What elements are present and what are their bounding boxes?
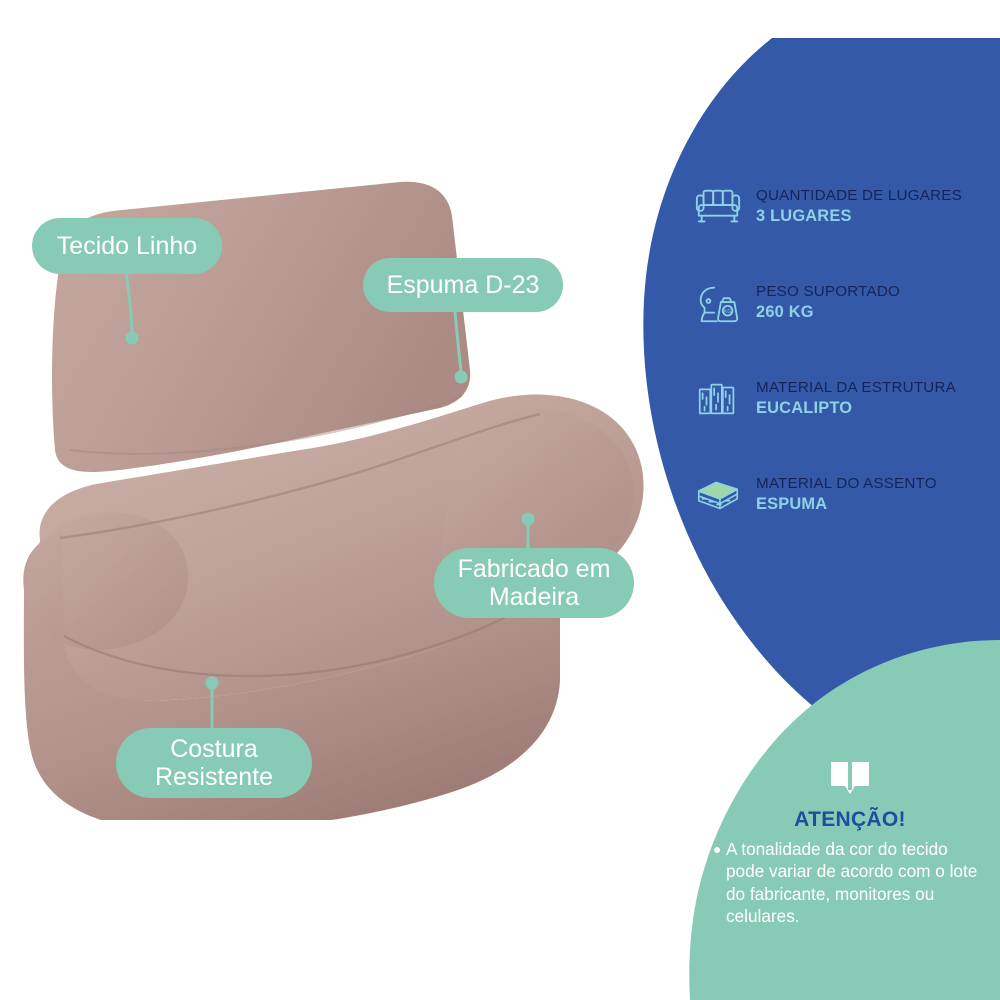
spec-row-peso-suportado: KG PESO SUPORTADO 260 KG [692, 268, 1000, 338]
attention-body-text: A tonalidade da cor do tecido pode varia… [726, 839, 977, 926]
svg-text:KG: KG [724, 309, 732, 315]
callout-costura-resistente[interactable]: Costura Resistente [116, 728, 312, 798]
wood-planks-icon [692, 373, 744, 425]
infographic-canvas: Tecido Linho Espuma D-23 Fabricado em Ma… [0, 0, 1000, 1000]
callout-label: Costura Resistente [155, 735, 273, 791]
callout-label: Tecido Linho [57, 232, 197, 260]
spec-value: 3 LUGARES [756, 207, 1000, 226]
spec-value: ESPUMA [756, 495, 1000, 514]
person-weight-icon: KG [692, 277, 744, 329]
callout-label: Espuma D-23 [387, 271, 540, 299]
spec-list: QUANTIDADE DE LUGARES 3 LUGARES KG PESO … [692, 172, 1000, 556]
callout-label: Fabricado em Madeira [458, 555, 611, 611]
sofa-icon [692, 181, 744, 233]
spec-label: MATERIAL DO ASSENTO [756, 475, 1000, 493]
callout-tecido-linho[interactable]: Tecido Linho [32, 218, 222, 274]
attention-block: ATENÇÃO! A tonalidade da cor do tecido p… [700, 760, 1000, 927]
exclamation-speech-icon [828, 760, 872, 800]
attention-body-wrapper: A tonalidade da cor do tecido pode varia… [700, 838, 1000, 927]
spec-label: PESO SUPORTADO [756, 283, 1000, 301]
attention-title: ATENÇÃO! [700, 808, 1000, 832]
callout-fabricado-em-madeira[interactable]: Fabricado em Madeira [434, 548, 634, 618]
spec-text: MATERIAL DA ESTRUTURA EUCALIPTO [756, 379, 1000, 418]
spec-text: PESO SUPORTADO 260 KG [756, 283, 1000, 322]
spec-label: QUANTIDADE DE LUGARES [756, 187, 1000, 205]
spec-label: MATERIAL DA ESTRUTURA [756, 379, 1000, 397]
callout-espuma-d23[interactable]: Espuma D-23 [363, 258, 563, 312]
spec-text: MATERIAL DO ASSENTO ESPUMA [756, 475, 1000, 514]
spec-row-material-do-assento: MATERIAL DO ASSENTO ESPUMA [692, 460, 1000, 530]
spec-text: QUANTIDADE DE LUGARES 3 LUGARES [756, 187, 1000, 226]
spec-value: EUCALIPTO [756, 399, 1000, 418]
spec-value: 260 KG [756, 303, 1000, 322]
spec-row-material-da-estrutura: MATERIAL DA ESTRUTURA EUCALIPTO [692, 364, 1000, 434]
bullet-icon [714, 847, 720, 853]
foam-layers-icon [692, 469, 744, 521]
spec-row-quantidade-de-lugares: QUANTIDADE DE LUGARES 3 LUGARES [692, 172, 1000, 242]
